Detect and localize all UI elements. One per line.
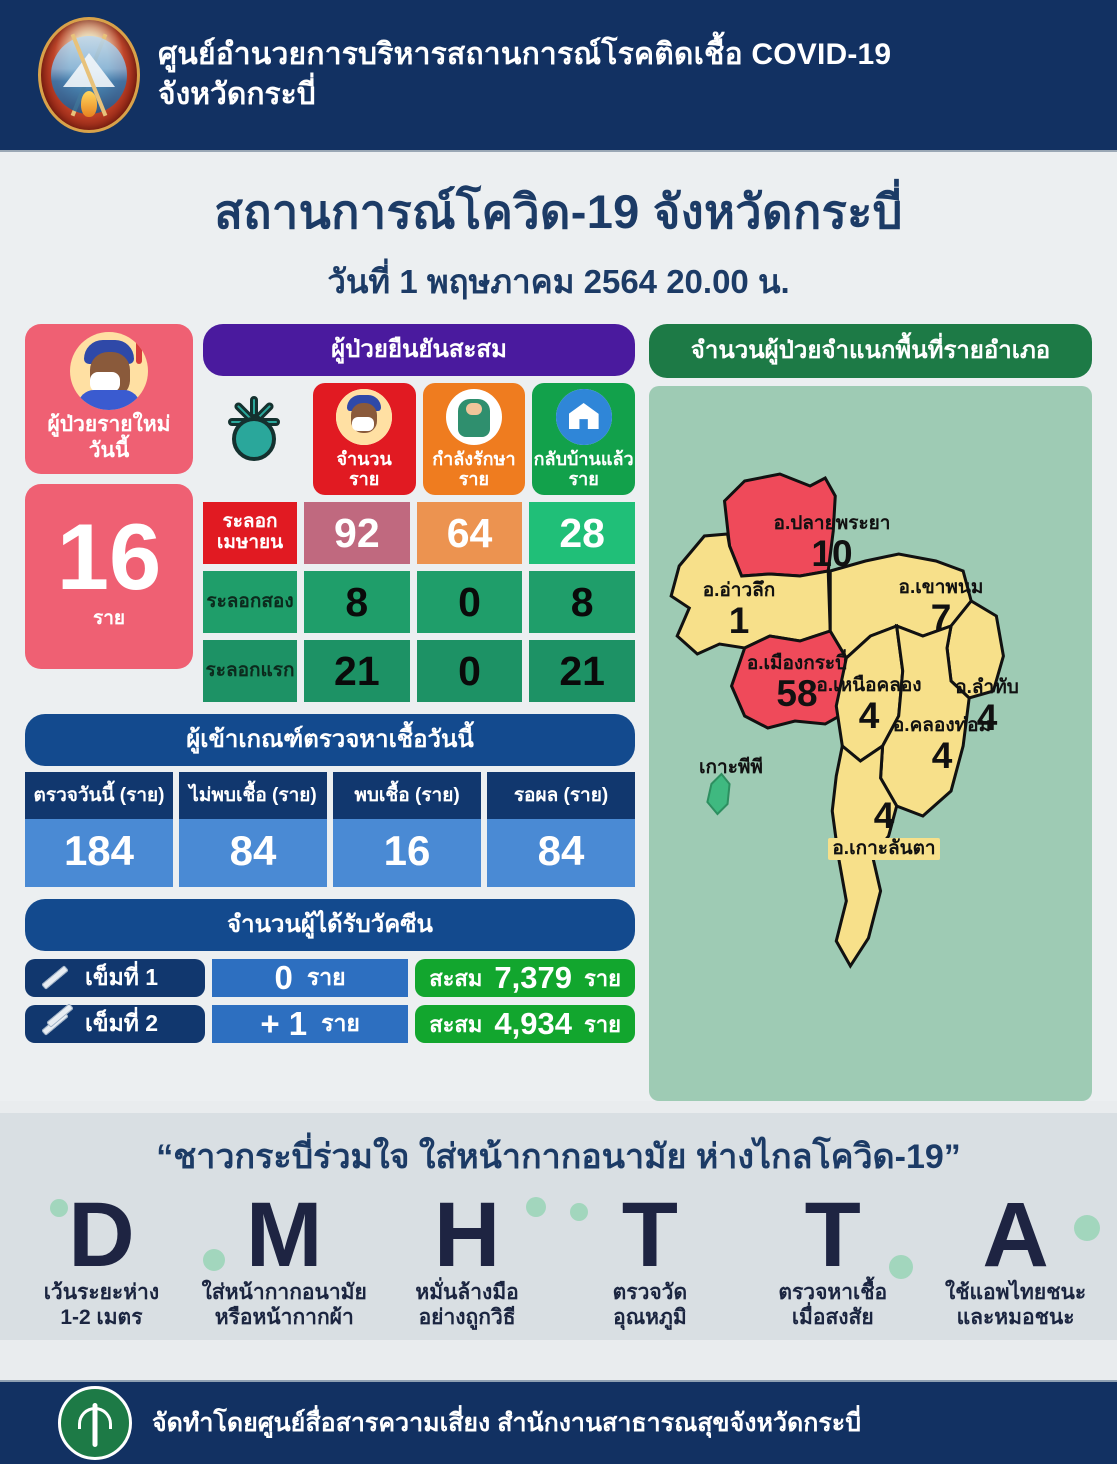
dmhtta-caption-testing: ตรวจหาเชื้อ เมื่อสงสัย bbox=[741, 1280, 924, 1330]
main-content: ผู้ป่วยรายใหม่ วันนี้ 16 ราย ผู้ป่วยยืนย… bbox=[0, 314, 1117, 1101]
home-icon bbox=[556, 389, 612, 445]
table-row: ระลอกแรก 21 0 21 bbox=[203, 640, 635, 702]
vaccine-header: จำนวนผู้ได้รับวัคซีน bbox=[25, 899, 635, 951]
testing-label-tested: ตรวจวันนี้ (ราย) bbox=[25, 772, 173, 819]
vaccine-dose1-cum-unit: ราย bbox=[584, 961, 621, 996]
ministry-of-public-health-logo-icon bbox=[58, 1386, 132, 1460]
syringe-icon bbox=[37, 963, 75, 993]
new-cases-panel: ผู้ป่วยรายใหม่ วันนี้ 16 ราย bbox=[25, 324, 193, 702]
dmhtta-item-temperature: T ตรวจวัด อุณหภูมิ bbox=[558, 1193, 741, 1330]
map-svg bbox=[649, 386, 1092, 1101]
testing-label-negative: ไม่พบเชื้อ (ราย) bbox=[179, 772, 327, 819]
vaccine-dose1-cum-value: 7,379 bbox=[494, 960, 572, 996]
cell-april-treating: 64 bbox=[417, 502, 523, 564]
header-line-2: จังหวัดกระบี่ bbox=[158, 75, 891, 115]
column-header-recovered: กลับบ้านแล้ว ราย bbox=[532, 383, 635, 495]
testing-label-positive: พบเชื้อ (ราย) bbox=[333, 772, 481, 819]
krabi-district-map: อ.ปลายพระยา 10 อ.อ่าวลึก 1 อ.เมืองกระบี่… bbox=[649, 386, 1092, 1101]
letter-h: H bbox=[434, 1193, 500, 1278]
vaccine-dose2-cum-label: สะสม bbox=[429, 1007, 482, 1042]
testing-table: ตรวจวันนี้ (ราย) 184 ไม่พบเชื้อ (ราย) 84… bbox=[25, 772, 635, 887]
cell-second-treating: 0 bbox=[417, 571, 523, 633]
map-header: จำนวนผู้ป่วยจำแนกพื้นที่รายอำเภอ bbox=[649, 324, 1092, 378]
vaccine-row-dose1: เข็มที่ 1 0 ราย สะสม 7,379 ราย bbox=[25, 959, 635, 997]
testing-value-negative: 84 bbox=[179, 819, 327, 887]
cumulative-header: ผู้ป่วยยืนยันสะสม bbox=[203, 324, 635, 376]
testing-col-negative: ไม่พบเชื้อ (ราย) 84 bbox=[179, 772, 327, 887]
new-cases-unit: ราย bbox=[93, 603, 125, 633]
doctor-icon bbox=[446, 389, 502, 445]
testing-label-pending: รอผล (ราย) bbox=[487, 772, 635, 819]
new-cases-and-cumulative: ผู้ป่วยรายใหม่ วันนี้ 16 ราย ผู้ป่วยยืนย… bbox=[25, 324, 635, 702]
testing-col-pending: รอผล (ราย) 84 bbox=[487, 772, 635, 887]
row-label-second-wave: ระลอกสอง bbox=[203, 571, 297, 633]
dmhtta-item-testing: T ตรวจหาเชื้อ เมื่อสงสัย bbox=[741, 1193, 924, 1330]
map-panel: จำนวนผู้ป่วยจำแนกพื้นที่รายอำเภอ bbox=[649, 324, 1092, 1101]
table-row: ระลอกสอง 8 0 8 bbox=[203, 571, 635, 633]
page-header: ศูนย์อำนวยการบริหารสถานการณ์โรคติดเชื้อ … bbox=[0, 0, 1117, 152]
cell-second-total: 8 bbox=[304, 571, 410, 633]
row-label-first-wave: ระลอกแรก bbox=[203, 640, 297, 702]
vaccine-dose1-today-value: 0 bbox=[275, 959, 293, 997]
dmhtta-row: D เว้นระยะห่าง 1-2 เมตร M ใส่หน้ากากอนาม… bbox=[0, 1193, 1117, 1340]
letter-t-temperature: T bbox=[622, 1193, 678, 1278]
cell-first-treating: 0 bbox=[417, 640, 523, 702]
letter-d: D bbox=[68, 1193, 134, 1278]
vaccine-dose2-today-value: + 1 bbox=[260, 1005, 307, 1043]
vaccine-dose2-today-unit: ราย bbox=[321, 1006, 360, 1042]
page-footer: จัดทำโดยศูนย์สื่อสารความเสี่ยง สำนักงานส… bbox=[0, 1380, 1117, 1464]
vaccine-dose2-text: เข็มที่ 2 bbox=[85, 1006, 158, 1042]
cell-first-total: 21 bbox=[304, 640, 410, 702]
header-text: ศูนย์อำนวยการบริหารสถานการณ์โรคติดเชื้อ … bbox=[158, 35, 891, 114]
cumulative-column-headers: จำนวน ราย กำลังรักษา ราย กลับบ้านแล้ว รา… bbox=[203, 383, 635, 495]
island-shape-phi-phi bbox=[707, 774, 729, 814]
vaccine-dose1-text: เข็มที่ 1 bbox=[85, 960, 158, 996]
footer-text: จัดทำโดยศูนย์สื่อสารความเสี่ยง สำนักงานส… bbox=[152, 1403, 861, 1443]
virus-icon bbox=[203, 383, 306, 495]
new-cases-header: ผู้ป่วยรายใหม่ วันนี้ bbox=[25, 324, 193, 474]
letter-t-testing: T bbox=[805, 1193, 861, 1278]
page-subtitle-datetime: วันที่ 1 พฤษภาคม 2564 20.00 น. bbox=[0, 255, 1117, 308]
testing-value-tested: 184 bbox=[25, 819, 173, 887]
header-line-1: ศูนย์อำนวยการบริหารสถานการณ์โรคติดเชื้อ … bbox=[158, 35, 891, 75]
table-row: ระลอก เมษายน 92 64 28 bbox=[203, 502, 635, 564]
dmhtta-caption-temperature: ตรวจวัด อุณหภูมิ bbox=[558, 1280, 741, 1330]
column-header-recovered-line1: กลับบ้านแล้ว bbox=[534, 449, 634, 469]
slogan-text: “ชาวกระบี่ร่วมใจ ใส่หน้ากากอนามัย ห่างไก… bbox=[0, 1129, 1117, 1183]
testing-value-positive: 16 bbox=[333, 819, 481, 887]
dmhtta-caption-distancing: เว้นระยะห่าง 1-2 เมตร bbox=[10, 1280, 193, 1330]
column-header-treating: กำลังรักษา ราย bbox=[423, 383, 526, 495]
new-cases-value-card: 16 ราย bbox=[25, 484, 193, 669]
column-header-recovered-line2: ราย bbox=[568, 469, 598, 489]
krabi-provincial-seal-icon bbox=[38, 17, 140, 133]
vaccine-dose2-label: เข็มที่ 2 bbox=[25, 1005, 205, 1043]
new-cases-label-2: วันนี้ bbox=[31, 438, 187, 464]
column-header-total-line2: ราย bbox=[349, 469, 379, 489]
sick-person-icon bbox=[336, 389, 392, 445]
letter-m: M bbox=[246, 1193, 323, 1278]
letter-a: A bbox=[982, 1193, 1048, 1278]
column-header-total-line1: จำนวน bbox=[336, 449, 391, 469]
vaccine-dose1-cumulative: สะสม 7,379 ราย bbox=[415, 959, 635, 997]
testing-value-pending: 84 bbox=[487, 819, 635, 887]
left-column: ผู้ป่วยรายใหม่ วันนี้ 16 ราย ผู้ป่วยยืนย… bbox=[25, 324, 635, 1101]
vaccine-row-dose2: เข็มที่ 2 + 1 ราย สะสม 4,934 ราย bbox=[25, 1005, 635, 1043]
column-header-treating-line2: ราย bbox=[459, 469, 489, 489]
cell-first-recovered: 21 bbox=[529, 640, 635, 702]
column-header-total: จำนวน ราย bbox=[313, 383, 416, 495]
cell-april-recovered: 28 bbox=[529, 502, 635, 564]
column-header-treating-line1: กำลังรักษา bbox=[432, 449, 515, 469]
testing-header: ผู้เข้าเกณฑ์ตรวจหาเชื้อวันนี้ bbox=[25, 714, 635, 766]
district-shape-plai-phraya bbox=[725, 474, 836, 576]
vaccine-dose1-cum-label: สะสม bbox=[429, 961, 482, 996]
new-cases-label-1: ผู้ป่วยรายใหม่ bbox=[31, 412, 187, 438]
testing-col-positive: พบเชื้อ (ราย) 16 bbox=[333, 772, 481, 887]
new-cases-value: 16 bbox=[57, 514, 162, 600]
dmhtta-item-mask: M ใส่หน้ากากอนามัย หรือหน้ากากผ้า bbox=[193, 1193, 376, 1330]
double-syringe-icon bbox=[37, 1009, 75, 1039]
vaccine-dose1-label: เข็มที่ 1 bbox=[25, 959, 205, 997]
row-label-april-line2: เมษายน bbox=[217, 532, 283, 553]
dmhtta-caption-app: ใช้แอพไทยชนะ และหมอชนะ bbox=[924, 1280, 1107, 1330]
vaccine-dose2-today: + 1 ราย bbox=[212, 1005, 408, 1043]
vaccine-dose1-today: 0 ราย bbox=[212, 959, 408, 997]
cumulative-table: ผู้ป่วยยืนยันสะสม bbox=[203, 324, 635, 702]
title-section: สถานการณ์โควิด-19 จังหวัดกระบี่ วันที่ 1… bbox=[0, 152, 1117, 314]
dmhtta-item-distancing: D เว้นระยะห่าง 1-2 เมตร bbox=[10, 1193, 193, 1330]
sick-person-icon bbox=[70, 332, 148, 410]
row-label-april-line1: ระลอก bbox=[223, 511, 278, 532]
vaccine-dose2-cum-value: 4,934 bbox=[494, 1006, 572, 1042]
dmhtta-item-app: A ใช้แอพไทยชนะ และหมอชนะ bbox=[924, 1193, 1107, 1330]
vaccine-dose2-cum-unit: ราย bbox=[584, 1007, 621, 1042]
testing-col-tested: ตรวจวันนี้ (ราย) 184 bbox=[25, 772, 173, 887]
page-title: สถานการณ์โควิด-19 จังหวัดกระบี่ bbox=[0, 174, 1117, 249]
vaccine-dose2-cumulative: สะสม 4,934 ราย bbox=[415, 1005, 635, 1043]
dmhtta-item-handwash: H หมั่นล้างมือ อย่างถูกวิธี bbox=[376, 1193, 559, 1330]
dmhtta-caption-mask: ใส่หน้ากากอนามัย หรือหน้ากากผ้า bbox=[193, 1280, 376, 1330]
cell-second-recovered: 8 bbox=[529, 571, 635, 633]
cell-april-total: 92 bbox=[304, 502, 410, 564]
row-label-april-wave: ระลอก เมษายน bbox=[203, 502, 297, 564]
dmhtta-caption-handwash: หมั่นล้างมือ อย่างถูกวิธี bbox=[376, 1280, 559, 1330]
vaccine-dose1-today-unit: ราย bbox=[307, 960, 346, 996]
prevention-section: “ชาวกระบี่ร่วมใจ ใส่หน้ากากอนามัย ห่างไก… bbox=[0, 1113, 1117, 1340]
